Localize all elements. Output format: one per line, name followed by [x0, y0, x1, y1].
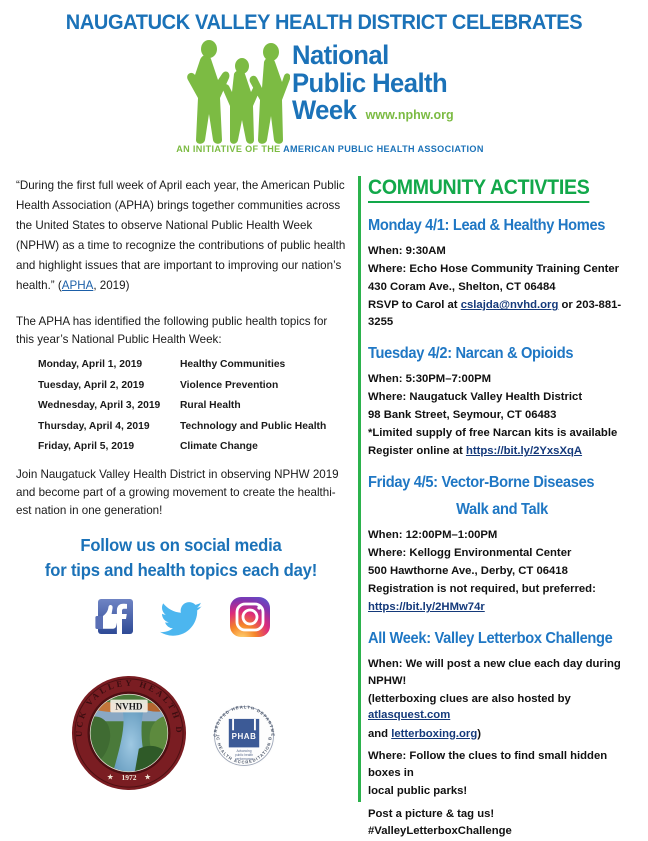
registration-link[interactable]: https://bit.ly/2HMw74r: [368, 601, 485, 613]
event-title: Monday 4/1: Lead & Healthy Homes: [368, 217, 620, 236]
event-line: and letterboxing.org): [368, 726, 636, 743]
topic-date: Tuesday, April 2, 2019: [38, 380, 180, 391]
event-line: Where: Follow the clues to find small hi…: [368, 748, 636, 781]
social-icons: [16, 594, 346, 640]
event-line: (letterboxing clues are also hosted by a…: [368, 691, 636, 724]
event-line: 500 Hawthorne Ave., Derby, CT 06418: [368, 563, 636, 580]
event-monday: Monday 4/1: Lead & Healthy Homes When: 9…: [368, 217, 636, 331]
topics-intro: The APHA has identified the following pu…: [16, 313, 346, 351]
topic-row: Thursday, April 4, 2019 Technology and P…: [38, 421, 346, 432]
nvhd-seal: NAUGATUCK VALLEY HEALTH DISTRICT NVHD 19…: [70, 674, 188, 792]
line-prefix: and: [368, 728, 391, 740]
event-friday: Friday 4/5: Vector-Borne Diseases Walk a…: [368, 474, 636, 616]
svg-text:★: ★: [144, 773, 151, 782]
apha-quote: “During the first full week of April eac…: [16, 176, 346, 296]
event-title: All Week: Valley Letterbox Challenge: [368, 630, 620, 649]
event-line: Where: Echo Hose Community Training Cent…: [368, 261, 636, 278]
twitter-icon[interactable]: [158, 594, 204, 640]
instagram-icon[interactable]: [227, 594, 273, 640]
event-line: local public parks!: [368, 783, 636, 800]
topic-name: Climate Change: [180, 441, 258, 452]
svg-text:PHAB: PHAB: [232, 732, 257, 741]
event-line: 430 Coram Ave., Shelton, CT 06484: [368, 279, 636, 296]
apha-initiative-tagline: AN INITIATIVE OF THE AMERICAN PUBLIC HEA…: [170, 144, 490, 154]
topic-row: Wednesday, April 3, 2019 Rural Health: [38, 400, 346, 411]
atlasquest-link[interactable]: atlasquest.com: [368, 709, 450, 721]
left-column: “During the first full week of April eac…: [16, 176, 346, 640]
topic-date: Monday, April 1, 2019: [38, 359, 180, 370]
event-title: Tuesday 4/2: Narcan & Opioids: [368, 345, 620, 364]
quote-text-end: , 2019): [93, 279, 129, 292]
event-line: Where: Kellogg Environmental Center: [368, 545, 636, 562]
topic-name: Technology and Public Health: [180, 421, 326, 432]
event-line: Where: Naugatuck Valley Health District: [368, 389, 636, 406]
event-line: RSVP to Carol at cslajda@nvhd.org or 203…: [368, 297, 636, 330]
logo-line-national: National: [292, 42, 482, 70]
three-people-celebrating-icon: [178, 36, 290, 148]
event-line: When: 9:30AM: [368, 243, 636, 260]
event-all-week: All Week: Valley Letterbox Challenge Whe…: [368, 630, 636, 839]
topic-date: Thursday, April 4, 2019: [38, 421, 180, 432]
event-line: https://bit.ly/2HMw74r: [368, 599, 636, 616]
facebook-icon[interactable]: [89, 594, 135, 640]
column-divider: [358, 176, 361, 802]
event-details: When: 12:00PM–1:00PM Where: Kellogg Envi…: [368, 527, 636, 617]
event-line: Registration is not required, but prefer…: [368, 581, 636, 598]
follow-line-1: Follow us on social media: [24, 533, 338, 558]
line-prefix: Register online at: [368, 445, 466, 457]
line-prefix: (letterboxing clues are also hosted by: [368, 693, 571, 705]
phab-accreditation-seal: ACCREDITED HEALTH DEPARTMENT PUBLIC HEAL…: [206, 698, 282, 774]
seals-row: NAUGATUCK VALLEY HEALTH DISTRICT NVHD 19…: [44, 672, 334, 804]
nphw-url: www.nphw.org: [366, 108, 454, 125]
join-paragraph: Join Naugatuck Valley Health District in…: [16, 466, 346, 520]
event-line: When: We will post a new clue each day d…: [368, 656, 636, 689]
tagline-blue-part: AMERICAN PUBLIC HEALTH ASSOCIATION: [283, 144, 484, 154]
line-suffix: ): [477, 728, 481, 740]
right-column: COMMUNITY ACTIVTIES Monday 4/1: Lead & H…: [368, 176, 636, 841]
svg-text:performance: performance: [235, 757, 253, 761]
event-title-second-line: Walk and Talk: [376, 501, 628, 520]
event-line: 98 Bank Street, Seymour, CT 06483: [368, 407, 636, 424]
svg-text:1972: 1972: [122, 773, 137, 782]
nphw-logo: National Public Health Week www.nphw.org…: [170, 36, 490, 161]
event-line: Register online at https://bit.ly/2YxsXq…: [368, 443, 636, 460]
apha-link[interactable]: APHA: [62, 279, 94, 292]
follow-line-2: for tips and health topics each day!: [24, 558, 338, 583]
event-line: When: 12:00PM–1:00PM: [368, 527, 636, 544]
page-title: NAUGATUCK VALLEY HEALTH DISTRICT CELEBRA…: [23, 10, 626, 35]
svg-text:★: ★: [107, 773, 114, 782]
topic-row: Tuesday, April 2, 2019 Violence Preventi…: [38, 380, 346, 391]
logo-line-public-health: Public Health: [292, 70, 482, 98]
tagline-green-part: AN INITIATIVE OF THE: [176, 144, 283, 154]
topic-date: Friday, April 5, 2019: [38, 441, 180, 452]
follow-callout: Follow us on social media for tips and h…: [24, 533, 338, 583]
topic-date: Wednesday, April 3, 2019: [38, 400, 180, 411]
event-title: Friday 4/5: Vector-Borne Diseases: [368, 474, 620, 493]
nphw-wordmark: National Public Health Week www.nphw.org: [292, 42, 492, 125]
email-link[interactable]: cslajda@nvhd.org: [461, 299, 559, 311]
register-link[interactable]: https://bit.ly/2YxsXqA: [466, 445, 582, 457]
event-line: Post a picture & tag us! #ValleyLetterbo…: [368, 806, 636, 839]
event-line: *Limited supply of free Narcan kits is a…: [368, 425, 636, 442]
event-details: When: 9:30AM Where: Echo Hose Community …: [368, 243, 636, 331]
event-tuesday: Tuesday 4/2: Narcan & Opioids When: 5:30…: [368, 345, 636, 460]
line-prefix: RSVP to Carol at: [368, 299, 461, 311]
event-line: When: 5:30PM–7:00PM: [368, 371, 636, 388]
event-details: When: We will post a new clue each day d…: [368, 656, 636, 840]
event-details: When: 5:30PM–7:00PM Where: Naugatuck Val…: [368, 371, 636, 461]
quote-text-start: “During the first full week of April eac…: [16, 179, 345, 292]
topics-list: Monday, April 1, 2019 Healthy Communitie…: [38, 359, 346, 452]
topic-name: Violence Prevention: [180, 380, 278, 391]
topic-row: Friday, April 5, 2019 Climate Change: [38, 441, 346, 452]
community-activities-heading: COMMUNITY ACTIVTIES: [368, 176, 589, 203]
letterboxing-link[interactable]: letterboxing.org: [391, 728, 477, 740]
topic-row: Monday, April 1, 2019 Healthy Communitie…: [38, 359, 346, 370]
svg-text:NVHD: NVHD: [115, 702, 143, 712]
logo-line-week: Week: [292, 97, 356, 125]
topic-name: Rural Health: [180, 400, 241, 411]
flyer-page: NAUGATUCK VALLEY HEALTH DISTRICT CELEBRA…: [0, 0, 648, 810]
topic-name: Healthy Communities: [180, 359, 285, 370]
